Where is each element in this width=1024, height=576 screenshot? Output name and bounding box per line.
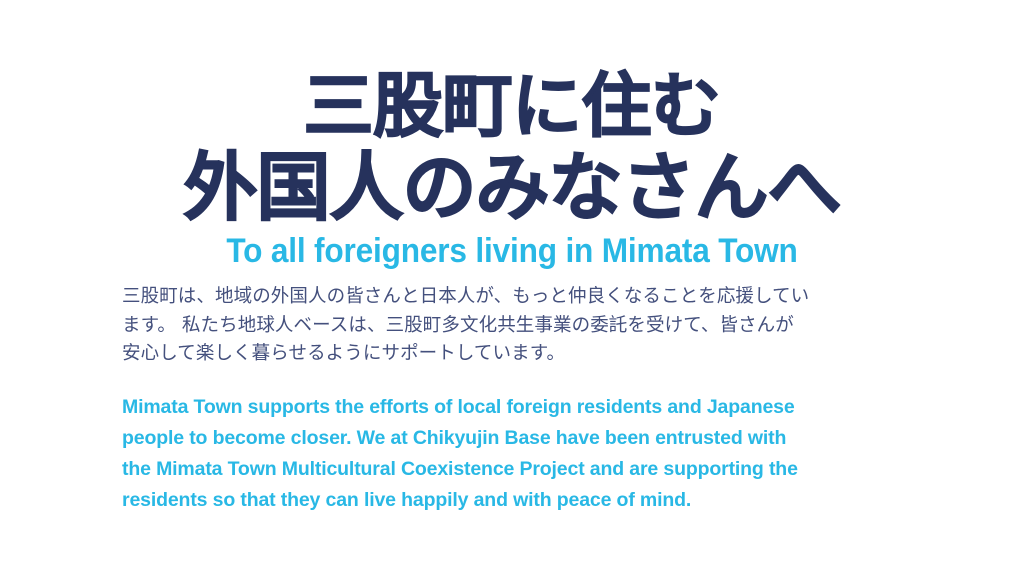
body-en-line-1: Mimata Town supports the efforts of loca… [122,392,912,423]
page-title: 三股町に住む 外国人のみなさんへ [0,65,1024,229]
body-en-line-3: the Mimata Town Multicultural Coexistenc… [122,454,912,485]
poster-canvas: 三股町に住む 外国人のみなさんへ To all foreigners livin… [0,0,1024,576]
headline-line-2: 外国人のみなさんへ [0,147,1024,229]
body-jp-line-1: 三股町は、地域の外国人の皆さんと日本人が、もっと仲良くなることを応援してい [122,283,912,312]
body-paragraph-english: Mimata Town supports the efforts of loca… [122,392,912,516]
body-paragraph-japanese: 三股町は、地域の外国人の皆さんと日本人が、もっと仲良くなることを応援してい ます… [122,283,912,369]
headline-line-1: 三股町に住む [0,65,1024,147]
body-jp-line-2: ます。 私たち地球人ベースは、三股町多文化共生事業の委託を受けて、皆さんが [122,312,912,341]
page-subtitle: To all foreigners living in Mimata Town [36,230,988,272]
body-en-line-4: residents so that they can live happily … [122,485,912,516]
body-jp-line-3: 安心して楽しく暮らせるようにサポートしています。 [122,340,912,369]
body-en-line-2: people to become closer. We at Chikyujin… [122,423,912,454]
